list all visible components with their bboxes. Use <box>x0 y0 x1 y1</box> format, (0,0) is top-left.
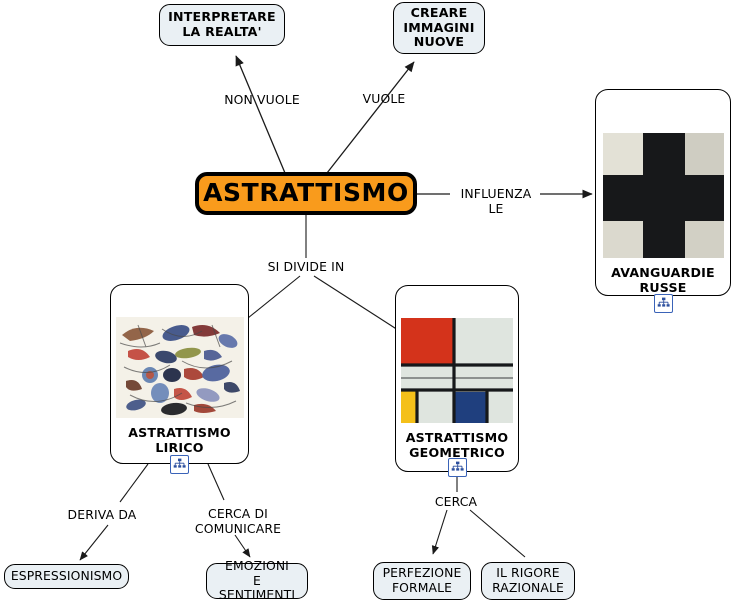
edge-label-cerca-di-comunicare: CERCA DI COMUNICARE <box>189 507 287 537</box>
node-label: INTERPRETARE LA REALTA' <box>168 10 276 40</box>
hierarchy-icon[interactable] <box>448 458 467 477</box>
node-avanguardie-russe[interactable]: AVANGUARDIE RUSSE <box>595 89 731 296</box>
node-caption: ASTRATTISMO GEOMETRICO <box>406 430 509 460</box>
node-interpretare-la-realta[interactable]: INTERPRETARE LA REALTA' <box>159 4 285 46</box>
artwork-mondrian-composition <box>401 318 513 423</box>
artwork-malevich-black-cross <box>603 133 724 258</box>
node-label: IL RIGORE RAZIONALE <box>492 566 564 595</box>
edge-label-influenza-le: INFLUENZA LE <box>452 187 540 217</box>
node-espressionismo[interactable]: ESPRESSIONISMO <box>4 564 129 589</box>
edge-non-vuole <box>236 56 285 173</box>
edge-label-vuole: VUOLE <box>355 92 413 107</box>
node-astrattismo-hub[interactable]: ASTRATTISMO <box>195 172 417 215</box>
node-perfezione-formale[interactable]: PERFEZIONE FORMALE <box>373 562 471 600</box>
concept-map-canvas: NON VUOLE VUOLE INFLUENZA LE SI DIVIDE I… <box>0 0 733 606</box>
node-caption: ASTRATTISMO LIRICO <box>128 425 231 455</box>
node-caption: AVANGUARDIE RUSSE <box>611 265 715 295</box>
edge-label-deriva-da: DERIVA DA <box>57 508 147 523</box>
node-label: CREARE IMMAGINI NUOVE <box>403 6 474 51</box>
edge-label-cerca: CERCA <box>428 495 484 510</box>
node-creare-immagini-nuove[interactable]: CREARE IMMAGINI NUOVE <box>393 2 485 54</box>
node-label: ESPRESSIONISMO <box>11 569 122 584</box>
edge-cerca <box>433 473 525 557</box>
node-label: EMOZIONI E SENTIMENTI <box>216 559 298 603</box>
hub-label: ASTRATTISMO <box>203 178 409 208</box>
edge-label-non-vuole: NON VUOLE <box>216 93 308 108</box>
edge-label-si-divide-in: SI DIVIDE IN <box>258 260 354 275</box>
artwork-kandinsky-first-abstract-watercolour <box>116 317 244 418</box>
hierarchy-icon[interactable] <box>170 455 189 474</box>
node-astrattismo-lirico[interactable]: ASTRATTISMO LIRICO <box>110 284 249 464</box>
node-emozioni-e-sentimenti[interactable]: EMOZIONI E SENTIMENTI <box>206 563 308 599</box>
node-astrattismo-geometrico[interactable]: ASTRATTISMO GEOMETRICO <box>395 285 519 472</box>
node-il-rigore-razionale[interactable]: IL RIGORE RAZIONALE <box>481 562 575 600</box>
edge-vuole <box>327 62 414 173</box>
node-label: PERFEZIONE FORMALE <box>383 566 462 595</box>
hierarchy-icon[interactable] <box>654 294 673 313</box>
